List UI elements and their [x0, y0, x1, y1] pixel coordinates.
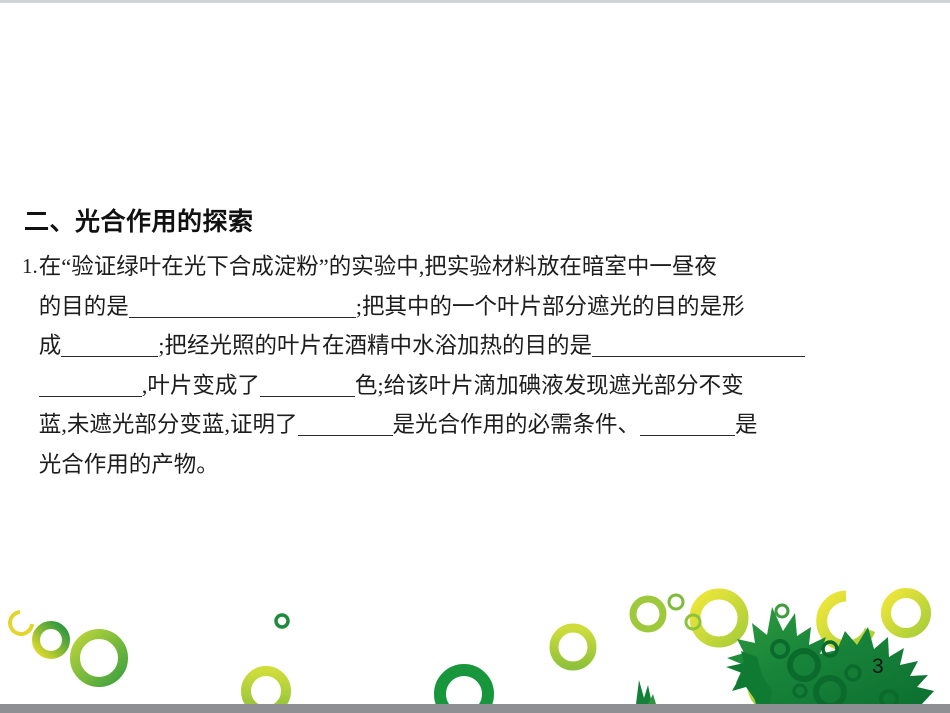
bubble-ring-icon	[36, 625, 66, 655]
bubble-ring-icon	[669, 595, 683, 609]
question-text-9: 是光合作用的必需条件、	[393, 412, 641, 437]
answer-blank-3a[interactable]	[592, 356, 805, 357]
question-line-5: 蓝,未遮光部分变蓝,证明了是光合作用的必需条件、是	[39, 405, 930, 445]
answer-blank-4[interactable]	[260, 396, 355, 397]
grass-tuft-icon	[636, 680, 652, 704]
bubble-ring-icon	[695, 594, 743, 642]
question-text-11: 光合作用的产物。	[39, 452, 219, 477]
bubble-ring-icon	[75, 634, 123, 682]
bubble-ring-icon	[276, 615, 288, 627]
section-heading: 二、光合作用的探索	[24, 206, 930, 237]
question-text-4: 成	[39, 333, 62, 358]
answer-blank-3b[interactable]	[39, 396, 142, 397]
question-line-4: ,叶片变成了色;给该叶片滴加碘液发现遮光部分不变	[39, 366, 930, 406]
question-text-1: 在“验证绿叶在光下合成淀粉”的实验中,把实验材料放在暗室中一昼夜	[39, 254, 717, 279]
bubble-ring-icon	[246, 671, 286, 704]
bubble-arc-icon	[886, 593, 926, 633]
bubble-ring-icon	[633, 599, 663, 629]
question-line-6: 光合作用的产物。	[39, 445, 930, 485]
question-item: 1. 在“验证绿叶在光下合成淀粉”的实验中,把实验材料放在暗室中一昼夜 的目的是…	[22, 247, 930, 484]
answer-blank-6[interactable]	[640, 435, 735, 436]
question-line-1: 在“验证绿叶在光下合成淀粉”的实验中,把实验材料放在暗室中一昼夜	[39, 247, 930, 287]
answer-blank-5[interactable]	[298, 435, 393, 436]
question-text-6: ,叶片变成了	[142, 373, 260, 398]
question-number: 1.	[22, 247, 39, 287]
question-body: 在“验证绿叶在光下合成淀粉”的实验中,把实验材料放在暗室中一昼夜 的目的是;把其…	[39, 247, 930, 484]
question-line-3: 成;把经光照的叶片在酒精中水浴加热的目的是	[39, 326, 930, 366]
question-text-5: ;把经光照的叶片在酒精中水浴加热的目的是	[158, 333, 592, 358]
bubble-ring-group-left	[10, 612, 592, 704]
bubble-ring-icon	[440, 670, 488, 704]
bottom-divider	[0, 704, 950, 713]
top-divider	[0, 0, 950, 3]
answer-blank-2[interactable]	[61, 356, 158, 357]
page-number: 3	[872, 655, 884, 679]
slide-page: 二、光合作用的探索 1. 在“验证绿叶在光下合成淀粉”的实验中,把实验材料放在暗…	[0, 0, 950, 713]
question-text-10: 是	[735, 412, 758, 437]
question-text-8: 蓝,未遮光部分变蓝,证明了	[39, 412, 298, 437]
bubble-ring-icon	[776, 605, 788, 617]
bubble-arc-icon	[10, 612, 32, 634]
bubble-ring-icon	[554, 628, 592, 666]
question-text-7: 色;给该叶片滴加碘液发现遮光部分不变	[355, 373, 744, 398]
question-text-2: 的目的是	[39, 294, 129, 319]
footer-decoration	[0, 579, 950, 704]
question-text-3: ;把其中的一个叶片部分遮光的目的是形	[356, 294, 745, 319]
answer-blank-1[interactable]	[129, 317, 356, 318]
slide-content: 二、光合作用的探索 1. 在“验证绿叶在光下合成淀粉”的实验中,把实验材料放在暗…	[22, 206, 930, 484]
question-line-2: 的目的是;把其中的一个叶片部分遮光的目的是形	[39, 287, 930, 327]
